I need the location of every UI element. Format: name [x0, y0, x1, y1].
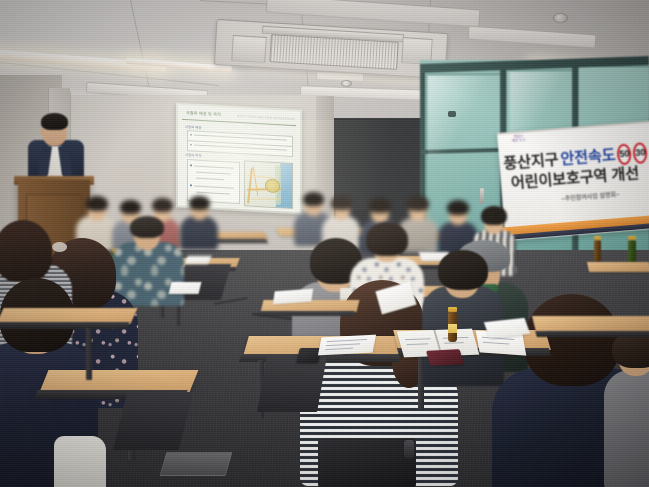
door-handle[interactable] — [480, 188, 484, 204]
desk-leg — [86, 328, 92, 380]
slide-bullet-icon — [190, 184, 192, 186]
slide-section-1-label: 사업의 배경 — [185, 124, 202, 130]
desk — [532, 316, 649, 332]
smoke-detector-icon — [553, 13, 568, 23]
speaker-ear — [40, 128, 44, 135]
banner-city-logo: 하남시 제안 도시 — [505, 133, 532, 151]
wall-mount-bracket — [448, 111, 456, 117]
map-road — [251, 198, 281, 199]
slide-section-2-label: 사업의 목적 — [185, 152, 202, 158]
bag-strap — [404, 440, 414, 458]
bottle-cap — [448, 307, 457, 312]
glass-reflection — [428, 76, 488, 156]
handbag — [318, 438, 416, 487]
floor-vent — [160, 452, 233, 476]
speaker-hair — [41, 113, 68, 130]
desk-modesty-panel — [257, 356, 327, 412]
wallet — [426, 349, 464, 366]
desk-leg — [418, 354, 424, 410]
speed-limit-30-icon: 30 — [633, 142, 649, 164]
desk-edge — [0, 322, 130, 329]
slide-bullet-icon — [190, 144, 192, 146]
handout-paper — [318, 335, 376, 356]
bottle-cap — [628, 236, 636, 240]
seminar-room-photo: 사업의 배경 및 목적 풍산지구 안전속도 5030 도입 및 어린이보호구역 … — [0, 0, 649, 487]
desk-edge — [257, 311, 354, 316]
ac-vane — [231, 35, 267, 63]
map-highlight-zone — [265, 178, 280, 193]
desk-edge — [535, 331, 649, 337]
banner-text-subtitle: ~주민참여사업 설명회~ — [530, 187, 649, 206]
speed-limit-50-icon: 50 — [617, 143, 633, 165]
slide-bullet-icon — [190, 134, 192, 136]
banner-text-safespeed: 안전속도 — [560, 147, 616, 166]
map-road — [253, 166, 259, 196]
slide-location-map — [244, 160, 293, 209]
handout-paper — [169, 282, 202, 294]
handout-paper — [185, 256, 212, 264]
beverage-bottle — [594, 240, 601, 262]
attendee-trousers — [54, 436, 106, 487]
desk — [40, 370, 199, 392]
slide-bullet-icon — [190, 164, 192, 166]
desk — [587, 262, 649, 272]
banner-text-district: 풍산지구 — [503, 152, 559, 171]
smoke-detector-icon — [341, 80, 352, 87]
bottle-label — [448, 324, 457, 333]
hair-clip — [52, 242, 67, 252]
bottle-cap — [594, 236, 601, 240]
